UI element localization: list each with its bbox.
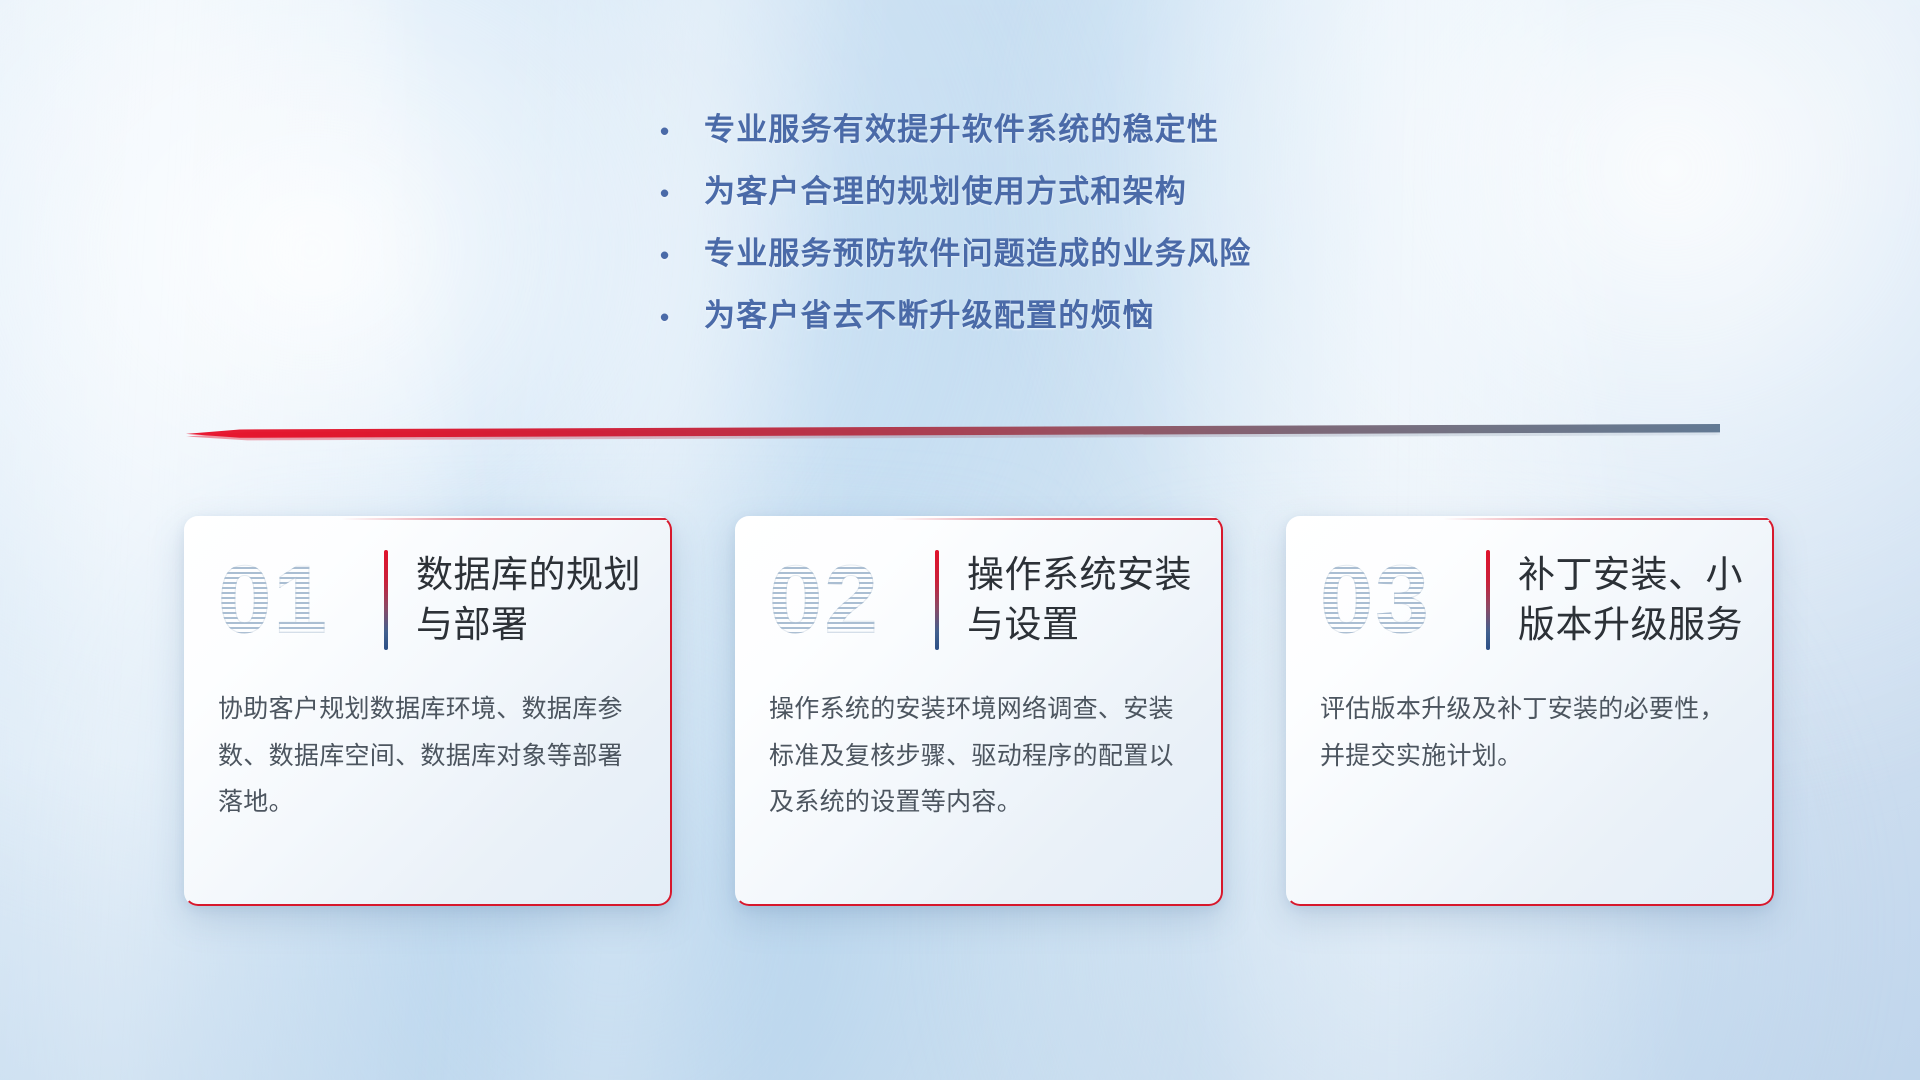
service-card[interactable]: 03 补丁安装、小版本升级服务 评估版本升级及补丁安装的必要性，并提交实施计划。 bbox=[1286, 516, 1774, 906]
bullet-dot-icon: • bbox=[660, 304, 704, 330]
section-divider bbox=[186, 424, 1720, 440]
service-card[interactable]: 02 操作系统安装与设置 操作系统的安装环境网络调查、安装标准及复核步骤、驱动程… bbox=[735, 516, 1223, 906]
card-title: 数据库的规划与部署 bbox=[416, 550, 642, 649]
bullet-item: • 专业服务有效提升软件系统的稳定性 bbox=[660, 104, 1420, 166]
bullet-item-label: 专业服务有效提升软件系统的稳定性 bbox=[704, 104, 1420, 149]
card-title: 操作系统安装与设置 bbox=[967, 550, 1193, 649]
card-header: 03 补丁安装、小版本升级服务 bbox=[1286, 516, 1774, 684]
bullet-item: • 为客户省去不断升级配置的烦恼 bbox=[660, 290, 1420, 352]
card-title: 补丁安装、小版本升级服务 bbox=[1518, 550, 1744, 649]
bullet-dot-icon: • bbox=[660, 180, 704, 206]
bullet-dot-icon: • bbox=[660, 118, 704, 144]
card-number: 02 bbox=[769, 552, 931, 648]
card-description: 操作系统的安装环境网络调查、安装标准及复核步骤、驱动程序的配置以及系统的设置等内… bbox=[735, 684, 1223, 826]
card-number: 01 bbox=[218, 552, 380, 648]
service-card-list: 01 数据库的规划与部署 协助客户规划数据库环境、数据库参数、数据库空间、数据库… bbox=[184, 516, 1774, 906]
bullet-item: • 为客户合理的规划使用方式和架构 bbox=[660, 166, 1420, 228]
bullet-item-label: 为客户省去不断升级配置的烦恼 bbox=[704, 290, 1420, 335]
service-card[interactable]: 01 数据库的规划与部署 协助客户规划数据库环境、数据库参数、数据库空间、数据库… bbox=[184, 516, 672, 906]
card-number: 03 bbox=[1320, 552, 1482, 648]
card-header: 01 数据库的规划与部署 bbox=[184, 516, 672, 684]
bullet-item: • 专业服务预防软件问题造成的业务风险 bbox=[660, 228, 1420, 290]
card-divider-bar bbox=[935, 550, 939, 650]
card-header: 02 操作系统安装与设置 bbox=[735, 516, 1223, 684]
card-divider-bar bbox=[1486, 550, 1490, 650]
card-description: 评估版本升级及补丁安装的必要性，并提交实施计划。 bbox=[1286, 684, 1774, 779]
bullet-item-label: 专业服务预防软件问题造成的业务风险 bbox=[704, 228, 1420, 273]
benefits-bullet-list: • 专业服务有效提升软件系统的稳定性 • 为客户合理的规划使用方式和架构 • 专… bbox=[660, 104, 1420, 352]
bullet-item-label: 为客户合理的规划使用方式和架构 bbox=[704, 166, 1420, 211]
card-description: 协助客户规划数据库环境、数据库参数、数据库空间、数据库对象等部署落地。 bbox=[184, 684, 672, 826]
card-divider-bar bbox=[384, 550, 388, 650]
bullet-dot-icon: • bbox=[660, 242, 704, 268]
